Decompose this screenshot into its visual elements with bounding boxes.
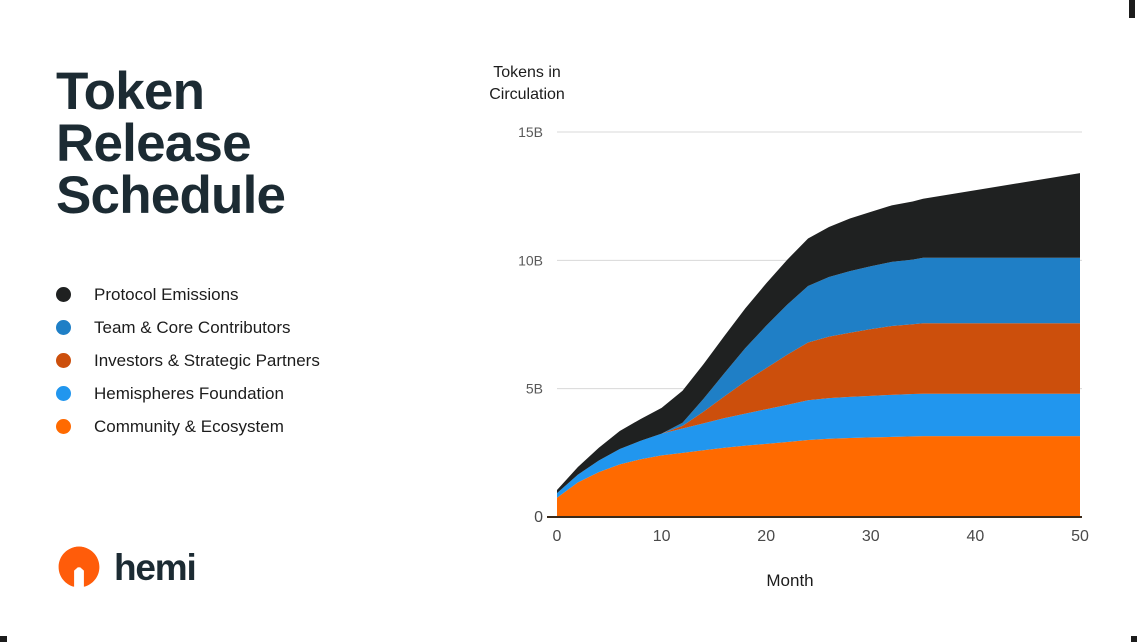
legend-item-label: Protocol Emissions (94, 285, 239, 305)
legend-item-label: Community & Ecosystem (94, 417, 284, 437)
x-axis-tick-label: 0 (553, 528, 562, 545)
legend-swatch-icon (56, 386, 71, 401)
page-edge-mark-bottom-left (0, 636, 7, 642)
hemi-logo-icon (57, 545, 101, 589)
y-axis-tick-label: 5B (526, 381, 543, 397)
page-edge-mark-bottom-right (1131, 636, 1137, 642)
x-axis-tick-label: 30 (862, 528, 880, 545)
chart-legend: Protocol Emissions Team & Core Contribut… (56, 278, 426, 443)
x-axis-title: Month (440, 571, 1140, 591)
stacked-area-chart[interactable]: 05B10B15B 01020304050 (440, 0, 1140, 560)
legend-swatch-icon (56, 419, 71, 434)
legend-item-protocol-emissions[interactable]: Protocol Emissions (56, 278, 426, 311)
legend-item-label: Hemispheres Foundation (94, 384, 284, 404)
area-series-group (557, 173, 1080, 517)
y-axis-tick-label: 0 (534, 509, 543, 526)
x-axis-tick-label: 10 (653, 528, 671, 545)
x-axis-tick-label: 40 (967, 528, 985, 545)
y-axis-tick-label: 10B (518, 252, 543, 268)
slide-canvas: Token Release Schedule Protocol Emission… (0, 0, 1140, 642)
hemi-logo-text: hemi (114, 549, 196, 586)
page-edge-mark-top-right (1129, 0, 1135, 18)
chart-container: Tokens in Circulation 05B10B15B 01020304… (440, 0, 1140, 642)
legend-item-label: Team & Core Contributors (94, 318, 291, 338)
x-axis-tick-label: 20 (757, 528, 775, 545)
hemi-logo[interactable]: hemi (57, 545, 196, 589)
legend-item-investors-strategic-partners[interactable]: Investors & Strategic Partners (56, 344, 426, 377)
legend-item-hemispheres-foundation[interactable]: Hemispheres Foundation (56, 377, 426, 410)
y-axis-tick-labels: 05B10B15B (518, 124, 543, 526)
y-axis-tick-label: 15B (518, 124, 543, 140)
legend-item-team-core-contributors[interactable]: Team & Core Contributors (56, 311, 426, 344)
x-axis-tick-labels: 01020304050 (553, 528, 1089, 545)
x-axis-tick-label: 50 (1071, 528, 1089, 545)
left-panel: Token Release Schedule Protocol Emission… (0, 0, 440, 642)
legend-item-label: Investors & Strategic Partners (94, 351, 320, 371)
legend-item-community-ecosystem[interactable]: Community & Ecosystem (56, 410, 426, 443)
page-title: Token Release Schedule (56, 66, 416, 222)
legend-swatch-icon (56, 320, 71, 335)
legend-swatch-icon (56, 353, 71, 368)
legend-swatch-icon (56, 287, 71, 302)
